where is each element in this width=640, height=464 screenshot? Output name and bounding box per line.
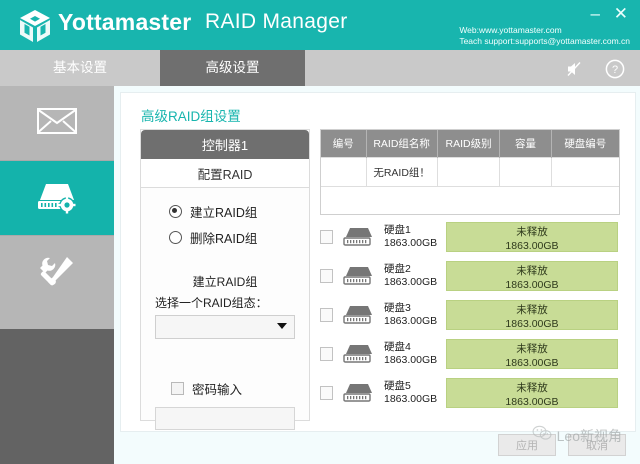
disk-capacity: 1863.00GB	[384, 315, 446, 328]
sidebar-item-tools[interactable]	[0, 236, 114, 310]
disk-meta-1: 硬盘1 1863.00GB	[384, 224, 446, 250]
controller-config-card: 控制器1 配置RAID 建立RAID组 删除RAID组 建立RAID组 选择一个…	[140, 129, 310, 421]
tab-basic-settings[interactable]: 基本设置	[0, 50, 160, 86]
contact-web: Web:www.yottamaster.com	[459, 25, 630, 36]
brand-name: Yottamaster	[58, 9, 191, 36]
disk-status-bar-3: 未释放 1863.00GB	[446, 300, 618, 330]
list-item[interactable]: 硬盘1 1863.00GB 未释放 1863.00GB	[320, 221, 618, 253]
page-title: 高级RAID组设置	[141, 105, 241, 125]
contact-support: Teach support:supports@yottamaster.com.c…	[459, 36, 630, 47]
create-raid-group-title: 建立RAID组	[141, 273, 309, 290]
disk-free: 1863.00GB	[447, 356, 617, 370]
disk-free: 1863.00GB	[447, 278, 617, 292]
list-item[interactable]: 硬盘5 1863.00GB 未释放 1863.00GB	[320, 377, 618, 409]
main-content: 高级RAID组设置 控制器1 配置RAID 建立RAID组 删除RAID组 建立…	[114, 86, 640, 464]
raid-mode-label: 选择一个RAID组态：	[155, 294, 309, 311]
cell-capacity	[500, 158, 551, 187]
disk-meta-4: 硬盘4 1863.00GB	[384, 341, 446, 367]
disk-meta-5: 硬盘5 1863.00GB	[384, 380, 446, 406]
disk-status-bar-5: 未释放 1863.00GB	[446, 378, 618, 408]
sidebar	[0, 86, 114, 464]
col-disk-ids: 硬盘编号	[551, 130, 619, 158]
disk-checkbox-5[interactable]	[320, 386, 333, 400]
help-circle-icon[interactable]: ?	[604, 58, 626, 80]
raid-manager-window: Yottamaster RAID Manager Web:www.yottama…	[0, 0, 640, 464]
disk-status-bar-2: 未释放 1863.00GB	[446, 261, 618, 291]
tab-advanced-settings[interactable]: 高级设置	[160, 50, 305, 86]
disk-checkbox-1[interactable]	[320, 230, 333, 244]
password-checkbox-box	[171, 382, 184, 395]
wrench-screwdriver-icon	[36, 254, 78, 293]
hard-disk-icon	[342, 303, 376, 327]
hard-disk-icon	[342, 264, 376, 288]
radio-delete-raid-label: 删除RAID组	[190, 228, 257, 247]
radio-create-raid[interactable]: 建立RAID组	[169, 202, 309, 221]
tab-bar-icons: ?	[564, 58, 626, 80]
list-item[interactable]: 硬盘2 1863.00GB 未释放 1863.00GB	[320, 260, 618, 292]
disk-capacity: 1863.00GB	[384, 276, 446, 289]
col-group-name: RAID组名称	[366, 130, 437, 158]
cell-group-name: 无RAID组！	[366, 158, 437, 187]
radio-delete-raid[interactable]: 删除RAID组	[169, 228, 309, 247]
cell-raid-level	[437, 158, 500, 187]
list-item[interactable]: 硬盘3 1863.00GB 未释放 1863.00GB	[320, 299, 618, 331]
footer-buttons: 应用 取消	[498, 434, 626, 456]
disk-name: 硬盘3	[384, 302, 446, 315]
disk-checkbox-2[interactable]	[320, 269, 333, 283]
chevron-down-icon	[277, 323, 287, 329]
disk-status: 未释放	[447, 225, 617, 239]
list-item[interactable]: 硬盘4 1863.00GB 未释放 1863.00GB	[320, 338, 618, 370]
radio-delete-raid-dot	[169, 231, 182, 244]
col-raid-level: RAID级别	[437, 130, 500, 158]
disk-list: 硬盘1 1863.00GB 未释放 1863.00GB	[320, 221, 618, 416]
hard-disk-icon	[342, 225, 376, 249]
disk-free: 1863.00GB	[447, 317, 617, 331]
disk-free: 1863.00GB	[447, 395, 617, 409]
mute-speaker-icon[interactable]	[564, 58, 586, 80]
controller-header: 控制器1	[141, 130, 309, 159]
cell-index	[321, 158, 366, 187]
disk-meta-3: 硬盘3 1863.00GB	[384, 302, 446, 328]
disk-gear-icon	[34, 178, 80, 219]
password-checkbox[interactable]: 密码输入	[171, 379, 309, 398]
title-bar: Yottamaster RAID Manager Web:www.yottama…	[0, 0, 640, 50]
raid-action-radio-group: 建立RAID组 删除RAID组	[141, 188, 309, 247]
contact-info: Web:www.yottamaster.com Teach support:su…	[459, 25, 630, 47]
tab-bar: 基本设置 高级设置	[0, 50, 640, 86]
disk-free: 1863.00GB	[447, 239, 617, 253]
col-capacity: 容量	[500, 130, 551, 158]
sidebar-item-mail[interactable]	[0, 86, 114, 160]
app-title: RAID Manager	[205, 10, 348, 34]
col-index: 编号	[321, 130, 366, 158]
disk-checkbox-4[interactable]	[320, 347, 333, 361]
table-row[interactable]: 无RAID组！	[321, 158, 619, 187]
close-button[interactable]: ✕	[614, 6, 628, 22]
disk-capacity: 1863.00GB	[384, 237, 446, 250]
advanced-settings-panel: 高级RAID组设置 控制器1 配置RAID 建立RAID组 删除RAID组 建立…	[120, 92, 636, 432]
radio-create-raid-dot	[169, 205, 182, 218]
sidebar-item-raid[interactable]	[0, 161, 114, 235]
disk-capacity: 1863.00GB	[384, 393, 446, 406]
raid-group-table: 编号 RAID组名称 RAID级别 容量 硬盘编号 无RAID组！	[320, 129, 620, 215]
disk-name: 硬盘4	[384, 341, 446, 354]
table-empty-area	[321, 186, 619, 214]
disk-capacity: 1863.00GB	[384, 354, 446, 367]
cube-logo-icon	[16, 8, 54, 44]
password-checkbox-label: 密码输入	[192, 379, 242, 398]
envelope-icon	[36, 106, 78, 141]
disk-status-bar-1: 未释放 1863.00GB	[446, 222, 618, 252]
disk-status: 未释放	[447, 381, 617, 395]
minimize-button[interactable]: –	[591, 6, 600, 22]
disk-status: 未释放	[447, 342, 617, 356]
configure-raid-label: 配置RAID	[141, 159, 309, 188]
disk-meta-2: 硬盘2 1863.00GB	[384, 263, 446, 289]
cell-disk-ids	[551, 158, 619, 187]
cancel-button[interactable]: 取消	[568, 434, 626, 456]
disk-status: 未释放	[447, 303, 617, 317]
disk-status-bar-4: 未释放 1863.00GB	[446, 339, 618, 369]
apply-button[interactable]: 应用	[498, 434, 556, 456]
sidebar-filler	[0, 329, 114, 464]
hard-disk-icon	[342, 381, 376, 405]
hard-disk-icon	[342, 342, 376, 366]
disk-name: 硬盘5	[384, 380, 446, 393]
disk-name: 硬盘1	[384, 224, 446, 237]
disk-name: 硬盘2	[384, 263, 446, 276]
svg-text:?: ?	[612, 64, 618, 76]
raid-mode-select[interactable]	[155, 315, 295, 339]
table-header-row: 编号 RAID组名称 RAID级别 容量 硬盘编号	[321, 130, 619, 158]
disk-checkbox-3[interactable]	[320, 308, 333, 322]
password-input[interactable]	[155, 407, 295, 430]
disk-status: 未释放	[447, 264, 617, 278]
radio-create-raid-label: 建立RAID组	[190, 202, 257, 221]
